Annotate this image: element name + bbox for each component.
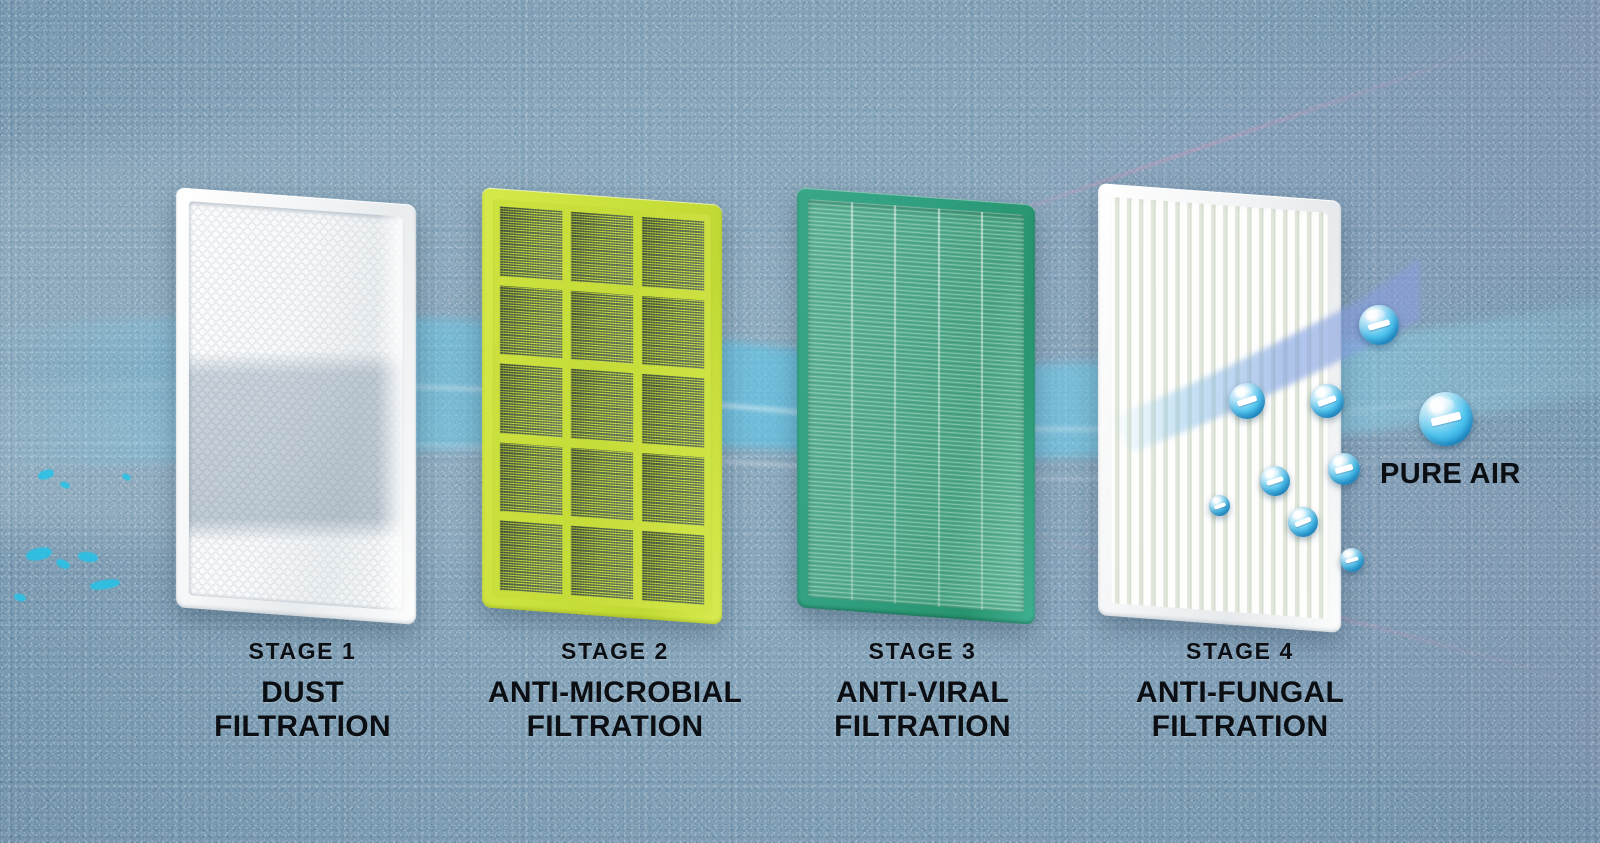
stage-1-label: STAGE 1 DUST FILTRATION — [160, 640, 445, 743]
mesh-cell — [571, 526, 633, 600]
negative-ion-bubble — [1310, 384, 1344, 418]
stage-3-name: ANTI-VIRAL FILTRATION — [780, 676, 1065, 743]
mesh-cell — [571, 369, 633, 443]
mesh-cell — [642, 296, 704, 370]
negative-ion-bubble — [1340, 548, 1364, 572]
stage-4-number: STAGE 4 — [1095, 640, 1385, 663]
negative-ion-bubble — [1419, 392, 1473, 446]
filter-media — [808, 199, 1024, 613]
stage-4-label: STAGE 4 ANTI-FUNGAL FILTRATION — [1095, 640, 1385, 743]
stage-4-name: ANTI-FUNGAL FILTRATION — [1095, 676, 1385, 743]
bubble-highlight — [1429, 397, 1454, 413]
negative-ion-bubble — [1288, 507, 1318, 537]
anti-fungal-filter-panel[interactable] — [1098, 192, 1341, 624]
mesh-cell — [571, 290, 633, 364]
pleat-divider — [894, 205, 896, 603]
stage-3-number: STAGE 3 — [780, 640, 1065, 663]
mesh-cell — [500, 207, 562, 281]
filter-media — [493, 199, 711, 613]
negative-ion-bubble — [1328, 453, 1360, 485]
mesh-cell — [642, 453, 704, 527]
negative-ion-bubble — [1260, 466, 1290, 496]
stage-3-label: STAGE 3 ANTI-VIRAL FILTRATION — [780, 640, 1065, 743]
mesh-cell — [500, 285, 562, 359]
mesh-cell — [642, 217, 704, 291]
stage-2-name: ANTI-MICROBIAL FILTRATION — [470, 676, 760, 743]
stage-1-name: DUST FILTRATION — [160, 676, 445, 743]
vertical-pleat-texture — [1111, 197, 1328, 619]
mesh-cell — [571, 212, 633, 286]
mesh-cell — [500, 364, 562, 438]
pure-air-label: PURE AIR — [1380, 458, 1521, 491]
stage-2-label: STAGE 2 ANTI-MICROBIAL FILTRATION — [470, 640, 760, 743]
stage-2-number: STAGE 2 — [470, 640, 760, 663]
mesh-cell — [642, 531, 704, 605]
dust-filter-panel[interactable] — [176, 196, 416, 616]
anti-viral-filter-panel[interactable] — [797, 196, 1035, 616]
filter-media — [1111, 197, 1328, 619]
negative-ion-bubble — [1209, 495, 1230, 516]
pleat-divider — [938, 209, 940, 607]
stage-1-number: STAGE 1 — [160, 640, 445, 663]
mesh-cell — [500, 442, 562, 516]
minus-icon — [1368, 319, 1391, 331]
edge-highlight — [377, 215, 403, 611]
filter-media — [189, 201, 403, 611]
negative-ion-bubble — [1359, 305, 1399, 345]
infographic-canvas: PURE AIR STAGE 1 DUST FILTRATION STAGE 2… — [0, 0, 1600, 843]
anti-microbial-filter-panel[interactable] — [482, 196, 722, 616]
minus-icon — [1430, 411, 1461, 426]
mesh-cell — [500, 521, 562, 595]
pleat-divider — [851, 202, 853, 600]
mesh-cell — [642, 374, 704, 448]
negative-ion-bubble — [1229, 383, 1265, 419]
mesh-grid — [493, 199, 711, 613]
pleat-divider — [981, 212, 983, 610]
mesh-cell — [571, 448, 633, 522]
glass-reflection-band — [189, 350, 403, 542]
horizontal-pleat-texture — [808, 199, 1024, 613]
bubble-highlight — [1366, 309, 1384, 321]
